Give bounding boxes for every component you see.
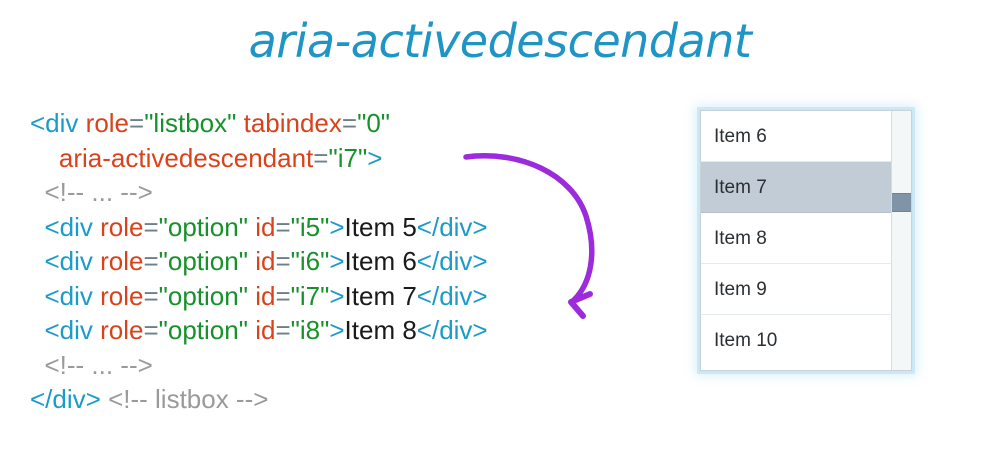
code-line: <!-- ... --> xyxy=(30,348,488,383)
code-token-val: "option" xyxy=(159,281,248,311)
listbox-option[interactable]: Item 7 xyxy=(701,162,891,213)
code-token-attr: role xyxy=(100,246,143,276)
code-indent xyxy=(30,281,44,311)
code-token-attr: role xyxy=(100,212,143,242)
code-token-eq: = xyxy=(143,246,158,276)
code-token-tag: </div> xyxy=(30,384,101,414)
code-token-val: "0" xyxy=(357,108,390,138)
code-indent xyxy=(30,212,44,242)
code-token-comment: <!-- ... --> xyxy=(44,350,152,380)
code-token-eq: = xyxy=(143,281,158,311)
code-token-tag: <div xyxy=(44,212,92,242)
vertical-scrollbar[interactable] xyxy=(891,111,911,370)
code-token-val: "listbox" xyxy=(144,108,236,138)
scrollbar-thumb[interactable] xyxy=(892,193,911,212)
code-line: <div role="listbox" tabindex="0" xyxy=(30,106,488,141)
code-line: <div role="option" id="i6">Item 6</div> xyxy=(30,244,488,279)
code-token-val: "option" xyxy=(159,212,248,242)
code-token-attr: aria-activedescendant xyxy=(59,143,313,173)
code-line: <div role="option" id="i8">Item 8</div> xyxy=(30,313,488,348)
code-token-eq: = xyxy=(143,315,158,345)
code-token-text: Item 5 xyxy=(345,212,417,242)
code-token-val: "i8" xyxy=(291,315,330,345)
code-token-val: "option" xyxy=(159,246,248,276)
code-token-text xyxy=(101,384,108,414)
code-token-tag: <div xyxy=(30,108,78,138)
listbox-option[interactable]: Item 6 xyxy=(701,111,891,162)
code-line: </div> <!-- listbox --> xyxy=(30,382,488,417)
code-token-eq: = xyxy=(143,212,158,242)
listbox-option[interactable]: Item 9 xyxy=(701,264,891,315)
listbox-option[interactable]: Item 8 xyxy=(701,213,891,264)
code-token-tag: <div xyxy=(44,246,92,276)
code-token-text xyxy=(78,108,85,138)
code-token-tag: </div> xyxy=(417,315,488,345)
code-token-eq: = xyxy=(275,281,290,311)
code-token-tag: </div> xyxy=(417,281,488,311)
code-token-attr: id xyxy=(255,246,275,276)
code-token-val: "i7" xyxy=(328,143,367,173)
code-token-attr: id xyxy=(255,315,275,345)
code-indent xyxy=(30,350,44,380)
code-token-comment: <!-- ... --> xyxy=(44,177,152,207)
code-token-attr: id xyxy=(255,281,275,311)
code-token-attr: role xyxy=(100,315,143,345)
code-token-tag: <div xyxy=(44,315,92,345)
code-token-tag: > xyxy=(329,212,344,242)
code-token-text xyxy=(236,108,243,138)
code-token-attr: tabindex xyxy=(244,108,342,138)
code-line: <div role="option" id="i5">Item 5</div> xyxy=(30,210,488,245)
listbox-option-list[interactable]: Item 6Item 7Item 8Item 9Item 10 xyxy=(701,111,891,370)
listbox-widget[interactable]: Item 6Item 7Item 8Item 9Item 10 xyxy=(700,110,912,371)
code-token-tag: > xyxy=(367,143,382,173)
code-token-eq: = xyxy=(313,143,328,173)
code-token-tag: </div> xyxy=(417,212,488,242)
code-line: <!-- ... --> xyxy=(30,175,488,210)
code-token-attr: role xyxy=(100,281,143,311)
code-token-text: Item 6 xyxy=(345,246,417,276)
code-line: aria-activedescendant="i7"> xyxy=(30,141,488,176)
code-token-attr: id xyxy=(255,212,275,242)
code-token-comment: <!-- listbox --> xyxy=(108,384,268,414)
code-token-tag: > xyxy=(329,246,344,276)
code-indent xyxy=(30,177,44,207)
code-token-eq: = xyxy=(342,108,357,138)
code-token-tag: <div xyxy=(44,281,92,311)
code-indent xyxy=(30,246,44,276)
code-token-text: Item 7 xyxy=(345,281,417,311)
code-token-eq: = xyxy=(275,212,290,242)
code-token-eq: = xyxy=(129,108,144,138)
code-token-eq: = xyxy=(275,315,290,345)
code-token-val: "i7" xyxy=(291,281,330,311)
code-token-val: "option" xyxy=(159,315,248,345)
code-indent xyxy=(30,143,59,173)
code-snippet: <div role="listbox" tabindex="0" aria-ac… xyxy=(30,106,488,417)
code-token-attr: role xyxy=(86,108,129,138)
code-token-eq: = xyxy=(275,246,290,276)
page-title: aria-activedescendant xyxy=(0,14,1000,68)
code-token-val: "i5" xyxy=(291,212,330,242)
code-token-tag: > xyxy=(329,315,344,345)
code-token-text: Item 8 xyxy=(345,315,417,345)
listbox-option[interactable]: Item 10 xyxy=(701,315,891,366)
code-token-tag: > xyxy=(329,281,344,311)
code-indent xyxy=(30,315,44,345)
code-token-val: "i6" xyxy=(291,246,330,276)
code-line: <div role="option" id="i7">Item 7</div> xyxy=(30,279,488,314)
code-token-tag: </div> xyxy=(417,246,488,276)
